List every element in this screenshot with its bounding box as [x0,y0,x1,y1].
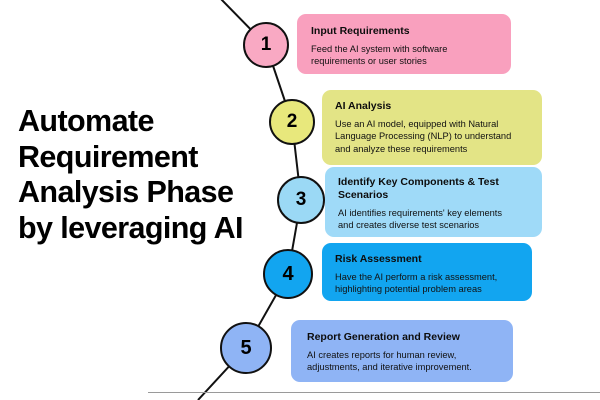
step-number-circle-4[interactable]: 4 [263,249,313,299]
step-card-1[interactable]: Input RequirementsFeed the AI system wit… [297,14,511,74]
step-number-label: 1 [261,34,272,56]
step-number-label: 2 [287,111,298,133]
step-card-title: AI Analysis [335,100,529,113]
step-card-body: Use an AI model, equipped with Natural L… [335,118,529,155]
step-number-circle-3[interactable]: 3 [277,176,325,224]
step-card-2[interactable]: AI AnalysisUse an AI model, equipped wit… [322,90,542,165]
step-number-circle-1[interactable]: 1 [243,22,289,68]
step-card-title: Risk Assessment [335,253,519,266]
step-number-label: 5 [240,337,251,360]
step-number-circle-2[interactable]: 2 [269,99,315,145]
step-card-title: Identify Key Components & Test Scenarios [338,176,529,202]
step-card-title: Input Requirements [311,25,497,38]
bottom-divider [148,392,600,393]
step-number-label: 4 [282,263,293,286]
step-card-title: Report Generation and Review [307,331,497,344]
step-card-body: AI creates reports for human review, adj… [307,349,497,374]
step-card-5[interactable]: Report Generation and ReviewAI creates r… [291,320,513,382]
step-card-body: Have the AI perform a risk assessment, h… [335,271,519,296]
step-card-body: Feed the AI system with software require… [311,43,497,68]
step-number-label: 3 [296,189,307,211]
step-number-circle-5[interactable]: 5 [220,322,272,374]
page-title: Automate Requirement Analysis Phase by l… [18,104,286,247]
step-card-3[interactable]: Identify Key Components & Test Scenarios… [325,167,542,237]
infographic-canvas: Automate Requirement Analysis Phase by l… [0,0,600,400]
step-card-4[interactable]: Risk AssessmentHave the AI perform a ris… [322,243,532,301]
step-card-body: AI identifies requirements' key elements… [338,207,529,232]
